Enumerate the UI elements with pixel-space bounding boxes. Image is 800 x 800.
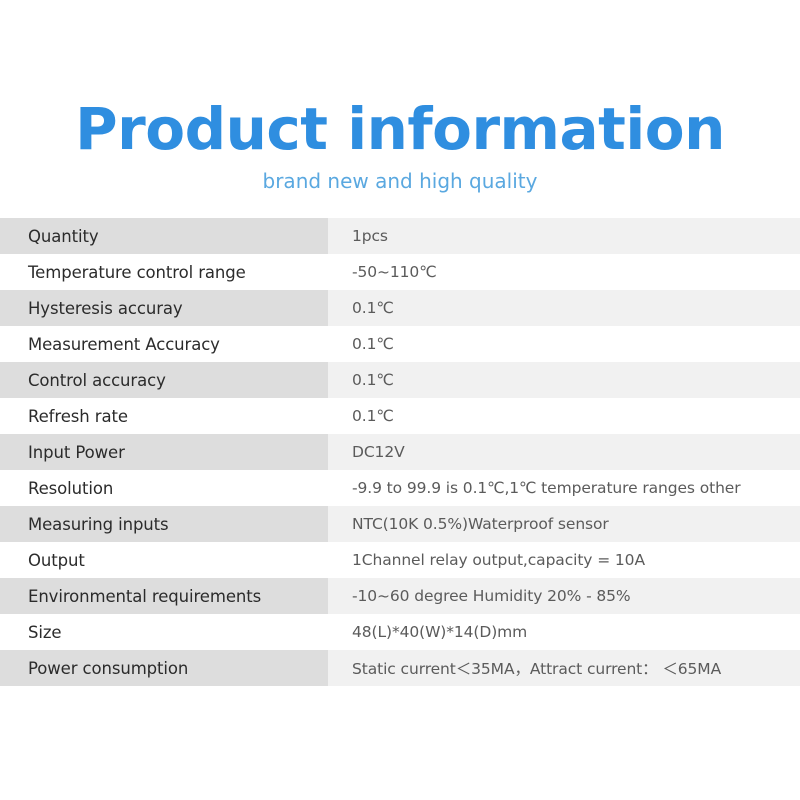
spec-value: 0.1℃ bbox=[328, 290, 800, 326]
spec-label: Quantity bbox=[0, 218, 328, 254]
table-row: Temperature control range-50~110℃ bbox=[0, 254, 800, 290]
spec-value: 1Channel relay output,capacity = 10A bbox=[328, 542, 800, 578]
spec-value: -10~60 degree Humidity 20% - 85% bbox=[328, 578, 800, 614]
spec-label: Control accuracy bbox=[0, 362, 328, 398]
spec-label: Output bbox=[0, 542, 328, 578]
spec-value: Static current＜35MA，Attract current： ＜65… bbox=[328, 650, 800, 686]
spec-label: Resolution bbox=[0, 470, 328, 506]
spec-label: Measurement Accuracy bbox=[0, 326, 328, 362]
table-row: Power consumptionStatic current＜35MA，Att… bbox=[0, 650, 800, 686]
table-row: Measuring inputsNTC(10K 0.5%)Waterproof … bbox=[0, 506, 800, 542]
page-title: Product information bbox=[0, 96, 800, 162]
table-row: Resolution-9.9 to 99.9 is 0.1℃,1℃ temper… bbox=[0, 470, 800, 506]
table-row: Input PowerDC12V bbox=[0, 434, 800, 470]
spec-label: Measuring inputs bbox=[0, 506, 328, 542]
spec-label: Input Power bbox=[0, 434, 328, 470]
table-row: Size48(L)*40(W)*14(D)mm bbox=[0, 614, 800, 650]
spec-label: Hysteresis accuray bbox=[0, 290, 328, 326]
spec-value: DC12V bbox=[328, 434, 800, 470]
spec-value: 1pcs bbox=[328, 218, 800, 254]
table-row: Output1Channel relay output,capacity = 1… bbox=[0, 542, 800, 578]
product-information-page: Product information brand new and high q… bbox=[0, 0, 800, 800]
table-row: Measurement Accuracy0.1℃ bbox=[0, 326, 800, 362]
spec-value: 0.1℃ bbox=[328, 362, 800, 398]
spec-value: -9.9 to 99.9 is 0.1℃,1℃ temperature rang… bbox=[328, 470, 800, 506]
page-header: Product information brand new and high q… bbox=[0, 0, 800, 194]
table-row: Quantity1pcs bbox=[0, 218, 800, 254]
table-row: Refresh rate0.1℃ bbox=[0, 398, 800, 434]
spec-label: Power consumption bbox=[0, 650, 328, 686]
specification-table: Quantity1pcsTemperature control range-50… bbox=[0, 218, 800, 686]
spec-label: Size bbox=[0, 614, 328, 650]
table-row: Hysteresis accuray0.1℃ bbox=[0, 290, 800, 326]
spec-value: 0.1℃ bbox=[328, 326, 800, 362]
table-row: Control accuracy0.1℃ bbox=[0, 362, 800, 398]
spec-value: -50~110℃ bbox=[328, 254, 800, 290]
spec-value: NTC(10K 0.5%)Waterproof sensor bbox=[328, 506, 800, 542]
page-subtitle: brand new and high quality bbox=[0, 162, 800, 194]
spec-label: Temperature control range bbox=[0, 254, 328, 290]
spec-value: 0.1℃ bbox=[328, 398, 800, 434]
table-row: Environmental requirements-10~60 degree … bbox=[0, 578, 800, 614]
spec-value: 48(L)*40(W)*14(D)mm bbox=[328, 614, 800, 650]
spec-label: Environmental requirements bbox=[0, 578, 328, 614]
spec-label: Refresh rate bbox=[0, 398, 328, 434]
